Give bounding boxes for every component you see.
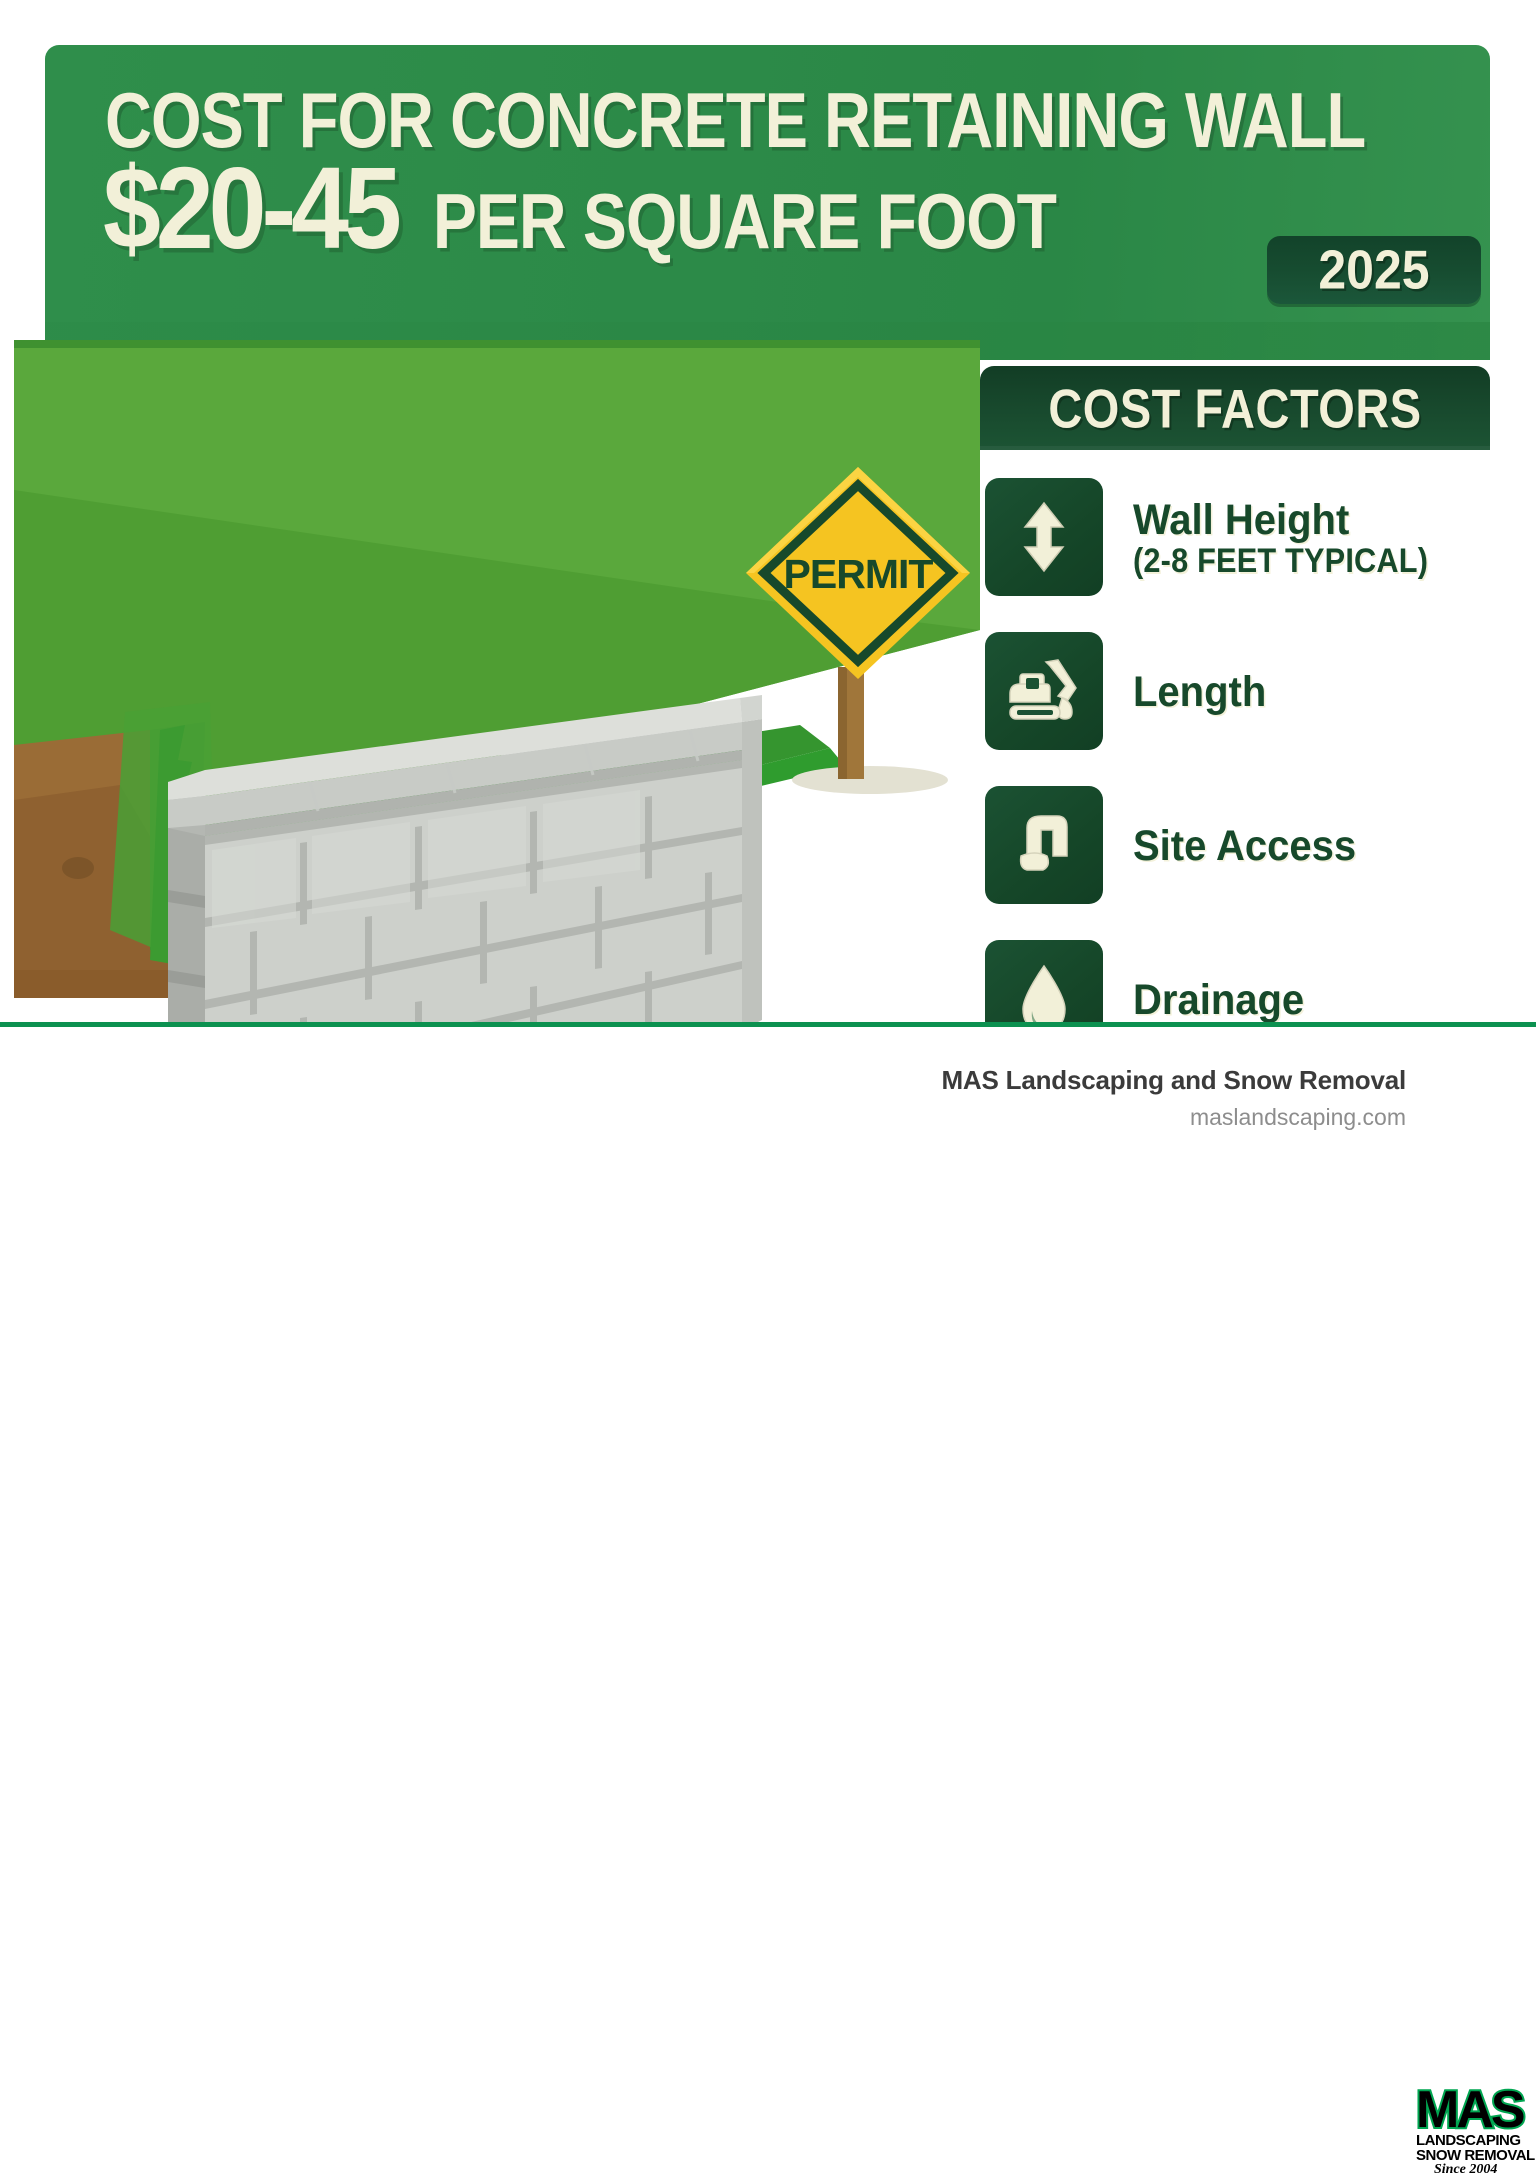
brand-block: MAS Landscaping and Snow Removal masland… bbox=[941, 1065, 1406, 1131]
logo-tagline: Since 2004 bbox=[1434, 2162, 1497, 2175]
price-unit: PER SQUARE FOOT bbox=[433, 182, 1056, 260]
logo-mark: MAS bbox=[1416, 2083, 1524, 2139]
excavator-icon bbox=[985, 632, 1103, 750]
cost-factor-text: Site Access bbox=[1133, 824, 1356, 866]
sign-ground-pad bbox=[792, 766, 948, 794]
backhoe-arm-icon bbox=[985, 786, 1103, 904]
cost-factor-label: Site Access bbox=[1133, 824, 1356, 869]
brand-name: MAS Landscaping and Snow Removal bbox=[941, 1065, 1406, 1096]
price-headline: $20-45 PER SQUARE FOOT bbox=[103, 163, 1056, 267]
mas-logo[interactable]: MAS LANDSCAPING SNOW REMOVAL Since 2004 bbox=[1414, 2083, 1536, 2175]
year-badge-label: 2025 bbox=[1318, 238, 1429, 302]
header-panel: COST FOR CONCRETE RETAINING WALL $20-45 … bbox=[45, 45, 1490, 360]
cost-factor-wall-height[interactable]: Wall Height (2-8 FEET TYPICAL) bbox=[985, 478, 1525, 596]
cost-factor-length[interactable]: Length bbox=[985, 632, 1525, 750]
cost-factor-sublabel: (2-8 FEET TYPICAL) bbox=[1133, 542, 1428, 580]
cost-factor-label: Length bbox=[1133, 670, 1266, 715]
cost-factor-site-access[interactable]: Site Access bbox=[985, 786, 1525, 904]
cost-factor-text: Wall Height (2-8 FEET TYPICAL) bbox=[1133, 498, 1431, 576]
brand-url[interactable]: maslandscaping.com bbox=[941, 1104, 1406, 1131]
cost-factor-label: Drainage bbox=[1133, 978, 1304, 1023]
sign-label: PERMIT bbox=[784, 551, 934, 597]
cost-factors-list: Wall Height (2-8 FEET TYPICAL) bbox=[985, 478, 1525, 1058]
cost-factors-panel-header: COST FACTORS bbox=[980, 366, 1490, 450]
cost-factor-text: Drainage bbox=[1133, 978, 1304, 1020]
cost-factors-title: COST FACTORS bbox=[1048, 376, 1421, 440]
year-badge: 2025 bbox=[1267, 236, 1481, 304]
vertical-arrow-icon bbox=[985, 478, 1103, 596]
price-value: $20-45 bbox=[103, 151, 397, 267]
footer: MAS Landscaping and Snow Removal masland… bbox=[0, 1027, 1536, 1154]
cost-factor-label: Wall Height bbox=[1133, 498, 1431, 543]
cost-factor-text: Length bbox=[1133, 670, 1266, 712]
permit-sign: PERMIT bbox=[730, 455, 990, 805]
infographic-canvas: COST FOR CONCRETE RETAINING WALL $20-45 … bbox=[0, 0, 1536, 1154]
